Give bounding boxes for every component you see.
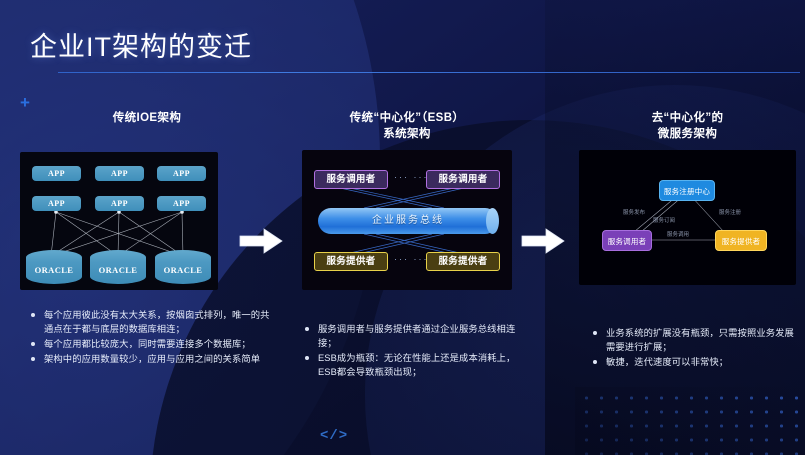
column-centralized-esb: 传统“中心化”（ESB） 系统架构 服务调用者 服务调用者 ··· ··· [296, 110, 518, 290]
edge-label-invoke: 服务调用 [667, 230, 689, 238]
service-provider-box: 服务提供者 [715, 230, 767, 251]
edge-label-register: 服务注册 [719, 208, 741, 216]
provider-separator-dots: ··· ··· [394, 254, 428, 264]
slide-root: 企业IT架构的变迁 + 传统IOE架构 [0, 0, 805, 455]
microservice-connection-lines [579, 150, 796, 285]
edge-label-publish: 服务发布 [623, 208, 645, 216]
app-box: APP [32, 196, 81, 211]
diagram-ioe: APP APP APP APP APP APP ORACLE ORACLE OR… [20, 152, 218, 290]
column-heading-esb: 传统“中心化”（ESB） 系统架构 [296, 110, 518, 144]
arrow-esb-to-microservice [520, 226, 566, 256]
list-item: 服务调用者与服务提供者通过企业服务总线相连接； [302, 322, 524, 350]
caller-separator-dots: ··· ··· [394, 172, 428, 182]
diagram-microservice: 服务注册中心 服务调用者 服务提供者 服务发布 服务订阅 服务注册 服务调用 [579, 150, 796, 285]
oracle-database-cylinder: ORACLE [26, 250, 82, 284]
service-provider-box: 服务提供者 [314, 252, 388, 271]
title-divider [58, 72, 800, 73]
list-item: 业务系统的扩展没有瓶颈，只需按照业务发展需要进行扩展； [590, 326, 802, 354]
column-heading-esb-line2: 系统架构 [296, 126, 518, 142]
page-title: 企业IT架构的变迁 [30, 25, 252, 64]
app-box: APP [32, 166, 81, 181]
column-heading-microservice-line2: 微服务架构 [575, 126, 800, 142]
bullet-list-esb: 服务调用者与服务提供者通过企业服务总线相连接； ESB成为瓶颈：无论在性能上还是… [302, 322, 524, 380]
service-caller-box: 服务调用者 [426, 170, 500, 189]
bullet-list-microservice: 业务系统的扩展没有瓶颈，只需按照业务发展需要进行扩展； 敏捷，迭代速度可以非常快… [590, 326, 802, 370]
app-box: APP [157, 196, 206, 211]
list-item: 每个应用都比较庞大，同时需要连接多个数据库； [28, 337, 278, 351]
list-item: 架构中的应用数量较少，应用与应用之间的关系简单 [28, 352, 278, 366]
column-decentralized-microservice: 去“中心化”的 微服务架构 服务注册中心 服务调用者 服务提供者 服务发布 服务… [575, 110, 800, 285]
column-heading-esb-line1: 传统“中心化”（ESB） [296, 110, 518, 126]
dot-grid-shade [575, 387, 805, 455]
app-box: APP [157, 166, 206, 181]
service-caller-box: 服务调用者 [314, 170, 388, 189]
list-item: 每个应用彼此没有太大关系，按烟囱式排列，唯一的共通点在于都与底层的数据库相连； [28, 308, 278, 336]
plus-decoration-icon: + [18, 96, 32, 110]
column-legacy-ioe: 传统IOE架构 APP [18, 110, 276, 290]
list-item: ESB成为瓶颈：无论在性能上还是成本消耗上，ESB都会导致瓶颈出现； [302, 351, 524, 379]
list-item: 敏捷，迭代速度可以非常快； [590, 355, 802, 369]
enterprise-service-bus: 企业服务总线 [318, 208, 498, 234]
column-heading-ioe: 传统IOE架构 [18, 110, 276, 144]
column-heading-microservice: 去“中心化”的 微服务架构 [575, 110, 800, 144]
service-caller-box: 服务调用者 [602, 230, 652, 251]
dot-grid-decoration [575, 387, 805, 455]
service-registry-box: 服务注册中心 [659, 180, 715, 201]
service-provider-box: 服务提供者 [426, 252, 500, 271]
diagram-esb: 服务调用者 服务调用者 ··· ··· 企业服务总线 服务提供者 服务提供者 ·… [302, 150, 512, 290]
oracle-database-cylinder: ORACLE [155, 250, 211, 284]
app-box: APP [95, 166, 144, 181]
oracle-database-cylinder: ORACLE [90, 250, 146, 284]
column-heading-microservice-line1: 去“中心化”的 [575, 110, 800, 126]
edge-label-subscribe: 服务订阅 [653, 216, 675, 224]
code-bracket-icon: </> [320, 428, 348, 444]
arrow-ioe-to-esb [238, 226, 284, 256]
app-box: APP [95, 196, 144, 211]
bullet-list-ioe: 每个应用彼此没有太大关系，按烟囱式排列，唯一的共通点在于都与底层的数据库相连； … [28, 308, 278, 367]
